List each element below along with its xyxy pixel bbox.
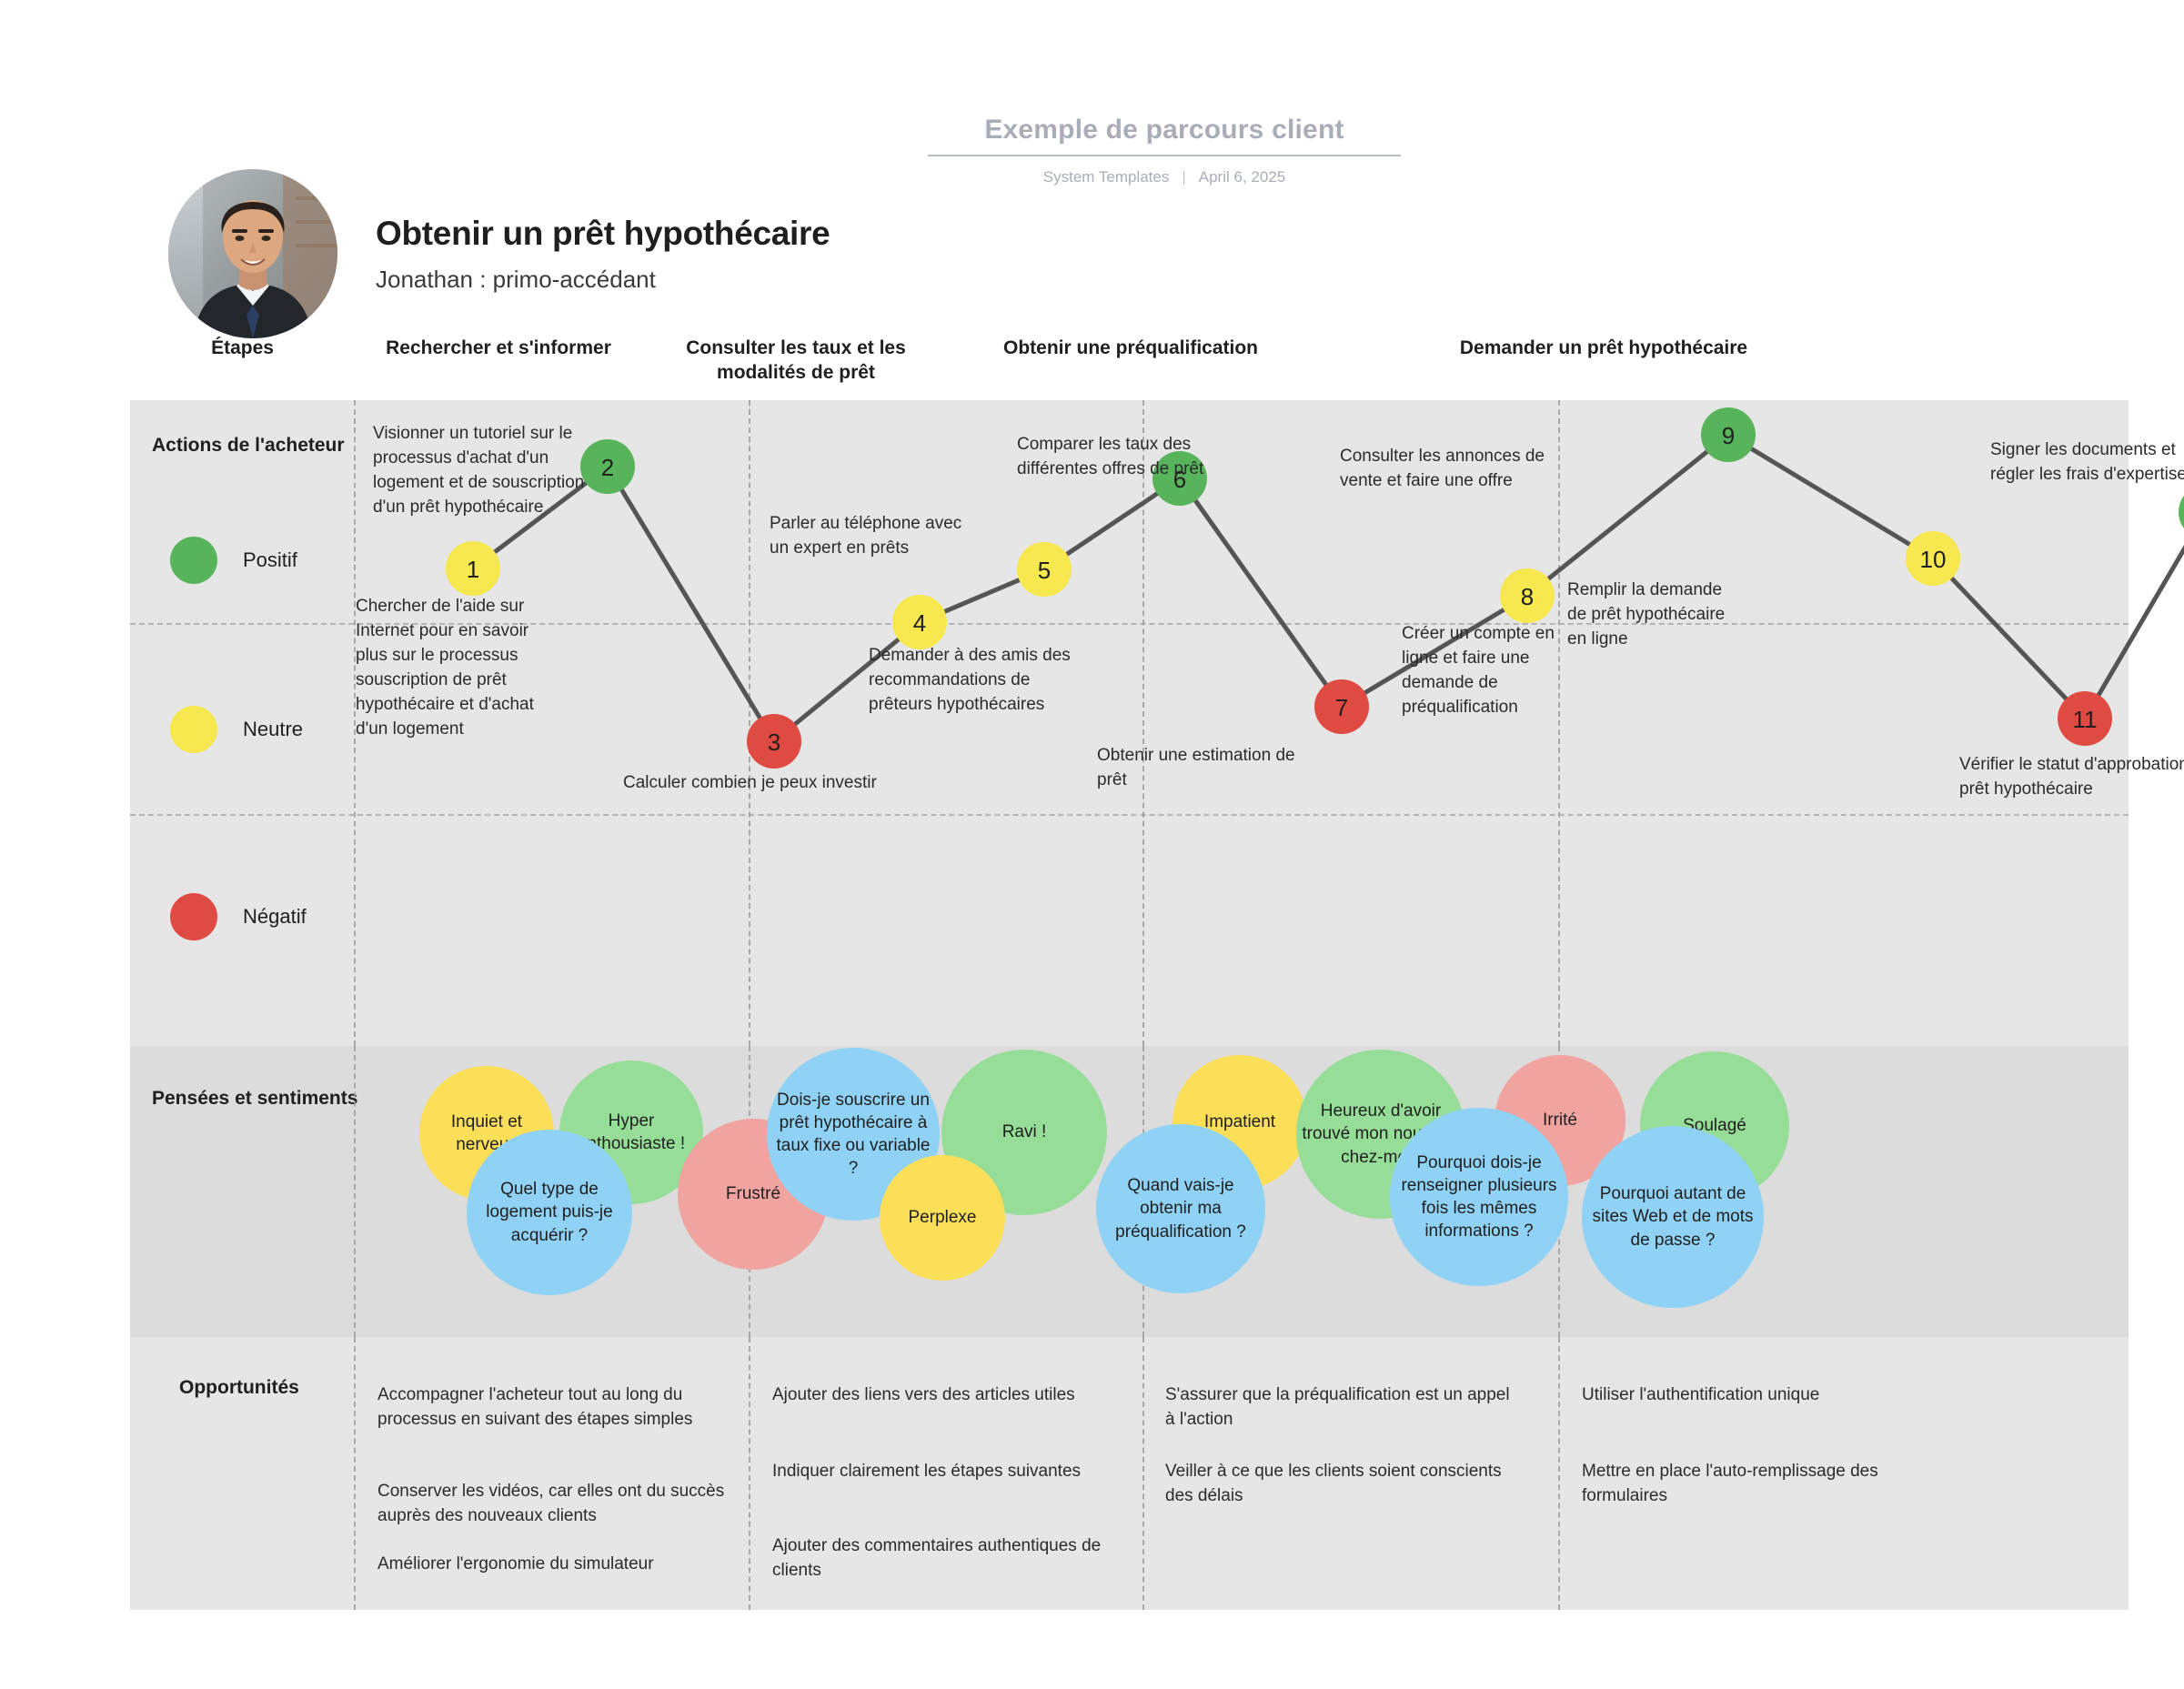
journey-node-3: 3 (747, 714, 801, 769)
opportunity-item: Veiller à ce que les clients soient cons… (1165, 1459, 1520, 1509)
action-note-10: Remplir la demande de prêt hypothécaire … (1567, 578, 1731, 652)
column-divider-1-thoughts (354, 1046, 356, 1337)
action-note-8: Créer un compte en ligne et faire une de… (1402, 622, 1584, 720)
svg-text:7: 7 (1335, 694, 1348, 721)
thought-bubble: Pourquoi autant de sites Web et de mots … (1582, 1126, 1764, 1308)
thought-bubble: Perplexe (880, 1155, 1005, 1281)
column-divider-4-opp (1558, 1337, 1560, 1610)
opportunity-item: Accompagner l'acheteur tout au long du p… (377, 1382, 741, 1433)
persona-block: Obtenir un prêt hypothécaire Jonathan : … (168, 169, 830, 338)
row-label-opportunities: Opportunités (179, 1377, 299, 1399)
stage-header-2: Consulter les taux et les modalités de p… (650, 337, 941, 386)
stage-header-4: Demander un prêt hypothécaire (1404, 337, 1804, 361)
svg-text:4: 4 (913, 609, 926, 637)
opportunity-item: S'assurer que la préqualification est un… (1165, 1382, 1520, 1433)
meta-separator: | (1182, 168, 1185, 186)
action-note-3: Calculer combien je peux investir (623, 771, 896, 796)
document-date: April 6, 2025 (1199, 168, 1285, 186)
journey-node-4: 4 (892, 595, 947, 649)
actions-band: Actions de l'acheteur Positif Neutre Nég… (130, 400, 2129, 1046)
action-note-11: Vérifier le statut d'approbation du prêt… (1959, 753, 2184, 802)
action-note-2: Visionner un tutoriel sur le processus d… (373, 422, 620, 520)
action-note-5: Parler au téléphone avec un expert en pr… (770, 512, 965, 561)
journey-node-10: 10 (1906, 531, 1960, 586)
journey-node-11: 11 (2058, 691, 2112, 746)
action-note-12: Signer les documents et régler les frais… (1990, 438, 2184, 488)
stage-header-row: Étapes Rechercher et s'informer Consulte… (130, 337, 2129, 400)
journey-node-9: 9 (1701, 407, 1756, 462)
document-meta: System Templates | April 6, 2025 (928, 168, 1401, 186)
document-title: Exemple de parcours client (928, 115, 1401, 156)
action-note-7: Obtenir une estimation de prêt (1097, 744, 1306, 793)
svg-text:1: 1 (467, 556, 479, 583)
row-label-thoughts: Pensées et sentiments (152, 1088, 357, 1110)
persona-subtitle: Jonathan : primo-accédant (376, 266, 830, 294)
svg-text:11: 11 (2073, 706, 2098, 733)
opportunity-item: Conserver les vidéos, car elles ont du s… (377, 1479, 741, 1529)
opportunity-item: Mettre en place l'auto-remplissage des f… (1582, 1459, 1946, 1509)
action-note-4: Demander à des amis des recommandations … (869, 644, 1078, 718)
stage-header-1: Rechercher et s'informer (357, 337, 639, 361)
opportunity-item: Améliorer l'ergonomie du simulateur (377, 1552, 750, 1576)
page-title: Obtenir un prêt hypothécaire (376, 215, 830, 253)
opportunity-item: Ajouter des commentaires authentiques de… (772, 1533, 1109, 1583)
column-divider-1-opp (354, 1337, 356, 1610)
opportunities-band: Opportunités Accompagner l'acheteur tout… (130, 1337, 2129, 1610)
journey-node-7: 7 (1314, 679, 1369, 734)
opportunity-item: Utiliser l'authentification unique (1582, 1382, 1964, 1407)
thought-bubble: Quand vais-je obtenir ma préqualificatio… (1096, 1124, 1265, 1293)
svg-text:3: 3 (768, 729, 780, 756)
column-header-etapes: Étapes (130, 337, 355, 361)
action-note-6: Comparer les taux des différentes offres… (1017, 433, 1244, 482)
svg-text:5: 5 (1038, 557, 1051, 584)
stage-header-3: Obtenir une préqualification (949, 337, 1313, 361)
svg-text:9: 9 (1722, 422, 1735, 449)
document-header: Exemple de parcours client System Templa… (928, 115, 1401, 186)
journey-nodes: 1 2 3 4 5 6 7 8 9 10 11 12 (446, 407, 2184, 769)
avatar (168, 169, 337, 338)
journey-grid: Étapes Rechercher et s'informer Consulte… (130, 337, 2129, 1610)
opportunity-item: Indiquer clairement les étapes suivantes (772, 1459, 1109, 1483)
journey-node-8: 8 (1500, 568, 1555, 623)
document-source: System Templates (1043, 168, 1170, 186)
thought-bubble: Quel type de logement puis-je acquérir ? (467, 1130, 632, 1295)
journey-node-5: 5 (1017, 542, 1072, 597)
action-note-1: Chercher de l'aide sur Internet pour en … (356, 595, 556, 742)
svg-text:10: 10 (1920, 546, 1947, 573)
svg-text:8: 8 (1521, 583, 1534, 610)
persona-text: Obtenir un prêt hypothécaire Jonathan : … (376, 215, 830, 294)
opportunity-item: Ajouter des liens vers des articles util… (772, 1382, 1109, 1407)
thoughts-band: Pensées et sentiments Inquiet et nerveux… (130, 1046, 2129, 1337)
journey-node-12: 12 (2179, 485, 2184, 539)
journey-node-1: 1 (446, 541, 500, 596)
column-divider-3-opp (1142, 1337, 1144, 1610)
thought-bubble: Pourquoi dois-je renseigner plusieurs fo… (1390, 1108, 1568, 1286)
action-note-9: Consulter les annonces de vente et faire… (1340, 445, 1549, 494)
